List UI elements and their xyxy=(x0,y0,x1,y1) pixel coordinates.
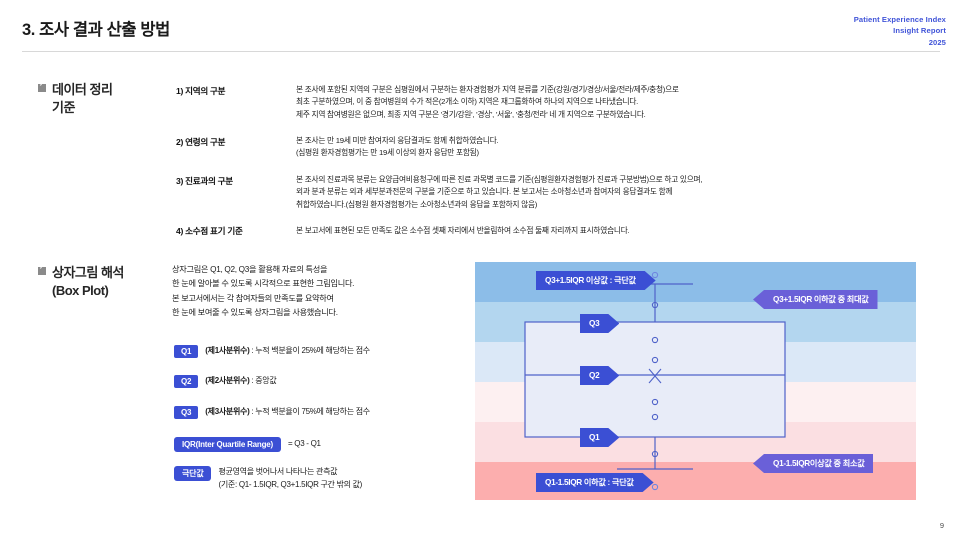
legend-term-q2: (제2사분위수) xyxy=(205,376,249,385)
legend-item-extreme: 극단값 평균영역을 벗어나서 나타나는 관측값 (기준: Q1- 1.5IQR,… xyxy=(174,466,362,492)
legend-desc-q2: : 중앙값 xyxy=(249,376,276,385)
legend-desc-iqr: = Q3 - Q1 xyxy=(288,438,321,451)
legend-term-q3: (제3사분위수) xyxy=(205,407,249,416)
legend-desc-q1: : 누적 백분율이 25%에 해당하는 점수 xyxy=(249,346,369,355)
annotation-lower-whisker: Q1-1.5IQR이상값 중 최소값 xyxy=(753,454,873,473)
legend-badge-q3: Q3 xyxy=(174,406,198,419)
legend-item-q2: Q2 (제2사분위수) : 중앙값 xyxy=(174,375,276,388)
report-meta-line2: Insight Report xyxy=(854,25,946,36)
criteria-label-2: 2) 연령의 구분 xyxy=(176,136,225,148)
outlier-point xyxy=(652,272,657,277)
legend-desc-extreme: 평균영역을 벗어나서 나타나는 관측값 (기준: Q1- 1.5IQR, Q3+… xyxy=(218,466,362,492)
outlier-point xyxy=(652,484,657,489)
section-heading-line1: 데이터 정리 xyxy=(52,82,112,97)
legend-badge-q1: Q1 xyxy=(174,345,198,358)
criteria-label-3: 3) 진료과의 구분 xyxy=(176,175,233,187)
criteria-label-4: 4) 소수점 표기 기준 xyxy=(176,225,243,237)
page-title: 3. 조사 결과 산출 방법 xyxy=(22,16,170,40)
legend-text-q2: (제2사분위수) : 중앙값 xyxy=(205,375,276,388)
boxplot-description: 상자그림은 Q1, Q2, Q3을 활용해 자료의 특성을 한 눈에 알아볼 수… xyxy=(172,263,354,320)
bullet-arrow-icon-2 xyxy=(38,267,46,275)
section-heading-boxplot: 상자그림 해석 (Box Plot) xyxy=(38,264,124,299)
criteria-label-1: 1) 지역의 구분 xyxy=(176,85,225,97)
page-header: 3. 조사 결과 산출 방법 Patient Experience Index … xyxy=(0,0,960,58)
criteria-body-1: 본 조사에 포함된 지역의 구분은 심평원에서 구분하는 환자경험평가 지역 분… xyxy=(296,84,679,121)
criteria-body-2: 본 조사는 만 19세 미만 참여자의 응답결과도 함께 취합하였습니다. (심… xyxy=(296,135,498,160)
section-heading-line2: 기준 xyxy=(52,99,112,117)
annotation-lower-extreme: Q1-1.5IQR 이하값 : 극단값 xyxy=(536,473,654,492)
report-meta: Patient Experience Index Insight Report … xyxy=(854,14,946,48)
legend-term-q1: (제1사분위수) xyxy=(205,346,249,355)
page-number: 9 xyxy=(940,521,944,530)
legend-item-q3: Q3 (제3사분위수) : 누적 백분율이 75%에 해당하는 점수 xyxy=(174,406,370,419)
section-heading-boxplot-line2: (Box Plot) xyxy=(52,282,124,300)
legend-desc-q3: : 누적 백분율이 75%에 해당하는 점수 xyxy=(249,407,369,416)
boxplot-figure: Q3+1.5IQR 이상값 : 극단값 Q3+1.5IQR 이하값 중 최대값 … xyxy=(475,262,916,500)
legend-text-q3: (제3사분위수) : 누적 백분율이 75%에 해당하는 점수 xyxy=(205,406,370,419)
header-divider xyxy=(22,51,940,52)
legend-badge-iqr: IQR(Inter Quartile Range) xyxy=(174,437,281,452)
criteria-body-4: 본 보고서에 표현된 모든 만족도 값은 소수점 셋째 자리에서 반올림하여 소… xyxy=(296,225,629,237)
legend-text-q1: (제1사분위수) : 누적 백분율이 25%에 해당하는 점수 xyxy=(205,345,370,358)
legend-badge-extreme: 극단값 xyxy=(174,466,211,481)
section-heading-data-rules: 데이터 정리 기준 xyxy=(38,81,112,116)
legend-badge-q2: Q2 xyxy=(174,375,198,388)
report-meta-line1: Patient Experience Index xyxy=(854,14,946,25)
annotation-upper-whisker: Q3+1.5IQR 이하값 중 최대값 xyxy=(753,290,878,309)
annotation-upper-extreme: Q3+1.5IQR 이상값 : 극단값 xyxy=(536,271,656,290)
legend-item-q1: Q1 (제1사분위수) : 누적 백분율이 25%에 해당하는 점수 xyxy=(174,345,370,358)
bullet-arrow-icon xyxy=(38,84,46,92)
criteria-body-3: 본 조사의 진료과목 분류는 요양급여비용청구에 따른 진료 과목별 코드를 기… xyxy=(296,174,702,211)
report-meta-line3: 2025 xyxy=(854,37,946,48)
section-heading-boxplot-line1: 상자그림 해석 xyxy=(52,265,124,280)
legend-item-iqr: IQR(Inter Quartile Range) = Q3 - Q1 xyxy=(174,437,321,452)
